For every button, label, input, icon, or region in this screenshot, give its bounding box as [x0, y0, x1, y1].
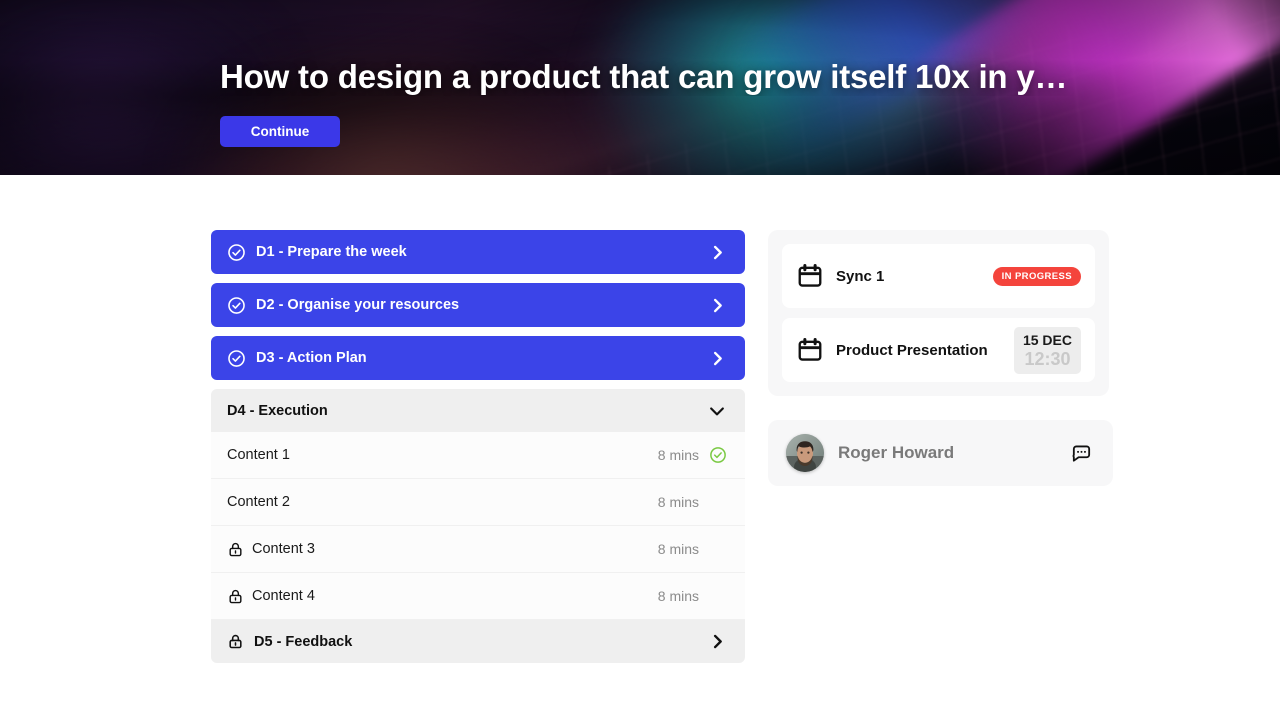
avatar: [786, 434, 824, 472]
module-list: D1 - Prepare the week D2 - Organise your…: [211, 230, 745, 663]
event-row-product-presentation[interactable]: Product Presentation 15 DEC 12:30: [782, 318, 1095, 382]
module-group-header-d4[interactable]: D4 - Execution: [211, 389, 745, 432]
content-duration: 8 mins: [658, 447, 699, 463]
module-row-d1[interactable]: D1 - Prepare the week: [211, 230, 745, 274]
event-row-sync-1[interactable]: Sync 1 IN PROGRESS: [782, 244, 1095, 308]
content-label: Content 3: [252, 541, 658, 557]
event-date-chip: 15 DEC 12:30: [1014, 327, 1081, 374]
events-card: Sync 1 IN PROGRESS Product Presentation …: [768, 230, 1109, 396]
event-name: Sync 1: [836, 268, 993, 285]
chevron-right-icon[interactable]: [708, 243, 727, 262]
module-row-d2[interactable]: D2 - Organise your resources: [211, 283, 745, 327]
event-date: 15 DEC: [1023, 331, 1072, 349]
chevron-down-icon[interactable]: [707, 401, 727, 421]
module-label: D2 - Organise your resources: [256, 297, 708, 313]
content-row-3[interactable]: Content 3 8 mins: [211, 526, 745, 573]
lock-icon: [227, 588, 244, 605]
calendar-icon: [796, 336, 824, 364]
chat-bubble-icon[interactable]: [1070, 442, 1093, 465]
content-duration: 8 mins: [658, 588, 699, 604]
profile-card[interactable]: Roger Howard: [768, 420, 1113, 486]
chevron-right-icon[interactable]: [708, 349, 727, 368]
module-label: D3 - Action Plan: [256, 350, 708, 366]
page-title: How to design a product that can grow it…: [220, 58, 1120, 96]
event-time: 12:30: [1023, 349, 1072, 369]
module-row-d3[interactable]: D3 - Action Plan: [211, 336, 745, 380]
chevron-right-icon[interactable]: [708, 296, 727, 315]
page-body: D1 - Prepare the week D2 - Organise your…: [0, 175, 1280, 713]
hero-banner: How to design a product that can grow it…: [0, 0, 1280, 175]
profile-name: Roger Howard: [838, 443, 1070, 463]
content-row-2[interactable]: Content 2 8 mins: [211, 479, 745, 526]
content-row-1[interactable]: Content 1 8 mins: [211, 432, 745, 479]
event-name: Product Presentation: [836, 342, 1014, 359]
module-label: D1 - Prepare the week: [256, 244, 708, 260]
module-group-label: D4 - Execution: [227, 403, 707, 419]
status-badge: IN PROGRESS: [993, 267, 1081, 286]
circle-check-icon: [227, 243, 246, 262]
sidebar: Sync 1 IN PROGRESS Product Presentation …: [768, 230, 1113, 486]
chevron-right-icon[interactable]: [708, 632, 727, 651]
circle-check-icon: [227, 296, 246, 315]
content-row-4[interactable]: Content 4 8 mins: [211, 573, 745, 620]
lock-icon: [227, 541, 244, 558]
continue-button[interactable]: Continue: [220, 116, 340, 147]
calendar-icon: [796, 262, 824, 290]
module-label: D5 - Feedback: [254, 634, 708, 650]
lock-icon: [227, 633, 244, 650]
module-row-d5[interactable]: D5 - Feedback: [211, 620, 745, 663]
circle-check-icon: [227, 349, 246, 368]
content-label: Content 1: [227, 447, 658, 463]
content-duration: 8 mins: [658, 541, 699, 557]
content-label: Content 4: [252, 588, 658, 604]
content-duration: 8 mins: [658, 494, 699, 510]
content-label: Content 2: [227, 494, 658, 510]
circle-check-icon: [709, 446, 727, 464]
